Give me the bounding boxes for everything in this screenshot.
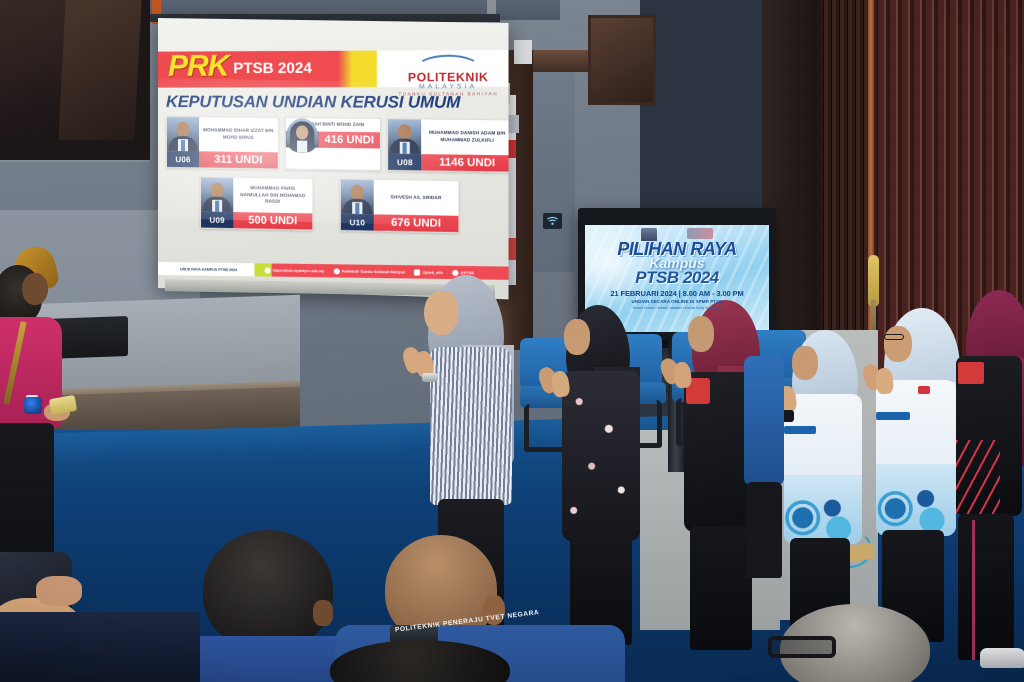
glasses bbox=[768, 636, 836, 658]
wall-plate bbox=[514, 40, 532, 64]
person-student-1 bbox=[778, 330, 874, 640]
candidate-photo bbox=[388, 119, 421, 154]
blue-shirt bbox=[744, 356, 784, 486]
person-partial-left-of-group bbox=[744, 336, 790, 576]
candidate-name: MOHAMMAD IDHAR IZZAT BIN MOHD IDRUS bbox=[199, 117, 278, 152]
candidate-name: MUHAMMAD FARIS NAIMULLAH BIN MOHAMAD RAS… bbox=[233, 178, 312, 213]
head-dark-hair bbox=[330, 640, 510, 682]
red-stripe-pattern bbox=[956, 440, 1000, 524]
floral-dress bbox=[562, 371, 640, 541]
batik-pattern bbox=[784, 475, 862, 544]
candidate-code: U06 bbox=[167, 151, 199, 167]
face bbox=[564, 319, 590, 355]
person-student-3 bbox=[956, 290, 1024, 680]
uniform-badge bbox=[918, 386, 930, 394]
wood-ceiling-panel-2 bbox=[58, 0, 141, 140]
candidate-votes: 311 UNDI bbox=[199, 151, 278, 168]
logo-name: POLITEKNIK bbox=[394, 71, 502, 84]
glasses bbox=[884, 334, 904, 340]
tv-date-line: 21 FEBRUARI 2024 | 8.00 AM - 3.00 PM bbox=[585, 289, 769, 298]
facebook-icon bbox=[334, 268, 340, 274]
candidate-code: U08 bbox=[388, 154, 421, 171]
uniform-shirt bbox=[784, 394, 862, 544]
tv-note: Kerusi Umum • Kerusi Jabatan • Kerusi Ko… bbox=[585, 306, 769, 311]
tv-title-script: Kampus bbox=[585, 255, 769, 271]
ear bbox=[313, 600, 333, 626]
candidate-photo bbox=[286, 118, 319, 153]
candidate-name: SHIVESH A/L SRIDAR bbox=[374, 180, 459, 216]
tv-title-line2: PTSB 2024 bbox=[585, 269, 769, 286]
wifi-icon bbox=[543, 213, 562, 229]
candidate-card: MUHAMMAD DANISH ADAM BIN MUHAMMAD ZULKIF… bbox=[387, 118, 508, 173]
candidate-votes: 500 UNDI bbox=[233, 212, 312, 229]
pant-stripe bbox=[972, 520, 975, 660]
candidate-photo bbox=[341, 179, 374, 214]
batik-pattern bbox=[876, 464, 956, 536]
candidate-votes: 676 UNDI bbox=[374, 214, 459, 232]
politeknik-logo-icon bbox=[687, 228, 713, 239]
footer-link-label: Politeknik Tuanku Sultanah Bahiyah bbox=[342, 269, 405, 274]
person-audience-front-head bbox=[330, 640, 510, 682]
person-audience-3 bbox=[762, 604, 952, 682]
foreground-shoulder bbox=[0, 612, 200, 682]
candidate-card: MOHAMMAD IDHAR IZZAT BIN MOHD IDRUS U06 … bbox=[166, 116, 279, 170]
logo-arc-icon bbox=[416, 55, 480, 72]
red-shoulder-trim bbox=[958, 362, 984, 384]
candidate-photo bbox=[201, 177, 233, 212]
tv-subtitle: UNDIAN SECARA ONLINE DI SPMR PTSB bbox=[585, 299, 769, 304]
hand-clapping bbox=[673, 361, 693, 389]
thumb bbox=[36, 576, 82, 606]
candidate-votes: 1146 UNDI bbox=[421, 154, 508, 172]
projector-screen: PRK PTSB 2024 POLITEKNIK MALAYSIA TUANKU… bbox=[158, 18, 509, 299]
banner-brand-prk: PRK bbox=[168, 52, 229, 82]
banner-brand-sub: PTSB 2024 bbox=[233, 61, 312, 76]
candidate-card: SHIVESH A/L SRIDAR U10 676 UNDI bbox=[340, 178, 460, 233]
politeknik-logo: POLITEKNIK MALAYSIA TUANKU SULTANAH BAHI… bbox=[394, 52, 502, 93]
uniform-cuff bbox=[876, 412, 910, 420]
black-trousers bbox=[690, 526, 752, 650]
globe-icon bbox=[265, 267, 271, 273]
wristwatch bbox=[24, 397, 42, 414]
candidate-name: MUHAMMAD DANISH ADAM BIN MUHAMMAD ZULKIF… bbox=[421, 120, 508, 156]
striped-shirt bbox=[430, 347, 512, 505]
candidate-votes: 416 UNDI bbox=[318, 131, 380, 148]
held-paper bbox=[49, 395, 77, 415]
candidate-photo bbox=[167, 117, 199, 151]
banner-title: KEPUTUSAN UNDIAN KERUSI UMUM bbox=[166, 93, 493, 113]
face bbox=[688, 316, 714, 352]
wall-picture-frame bbox=[588, 15, 656, 105]
face bbox=[424, 291, 458, 335]
sneaker bbox=[980, 648, 1024, 668]
uniform-shirt bbox=[876, 380, 956, 536]
face bbox=[22, 273, 48, 305]
candidate-code: U09 bbox=[201, 212, 233, 229]
candidate-row-2: MUHAMMAD FARIS NAIMULLAH BIN MOHAMAD RAS… bbox=[166, 176, 503, 234]
candidate-results-grid: MOHAMMAD IDHAR IZZAT BIN MOHD IDRUS U06 … bbox=[166, 116, 503, 242]
footer-link-label: @ptsb_edu bbox=[423, 270, 443, 274]
candidate-row-1: MOHAMMAD IDHAR IZZAT BIN MOHD IDRUS U06 … bbox=[166, 116, 503, 173]
footer-note: URUS RAYA KAMPUS PTSB 2024 bbox=[158, 266, 254, 271]
candidate-card: AMIRAH BINTI MOHD ZAIN U07 416 UNDI bbox=[285, 117, 381, 171]
black-tracksuit-pants bbox=[958, 514, 1014, 660]
dark-trousers bbox=[746, 482, 782, 578]
footer-link-website: https://ptsb.mypolycc.edu.my bbox=[265, 267, 325, 274]
wall-seam bbox=[0, 160, 150, 162]
footer-link-label: https://ptsb.mypolycc.edu.my bbox=[273, 268, 325, 273]
footer-link-facebook: Politeknik Tuanku Sultanah Bahiyah bbox=[334, 268, 406, 275]
candidate-card: MUHAMMAD FARIS NAIMULLAH BIN MOHAMAD RAS… bbox=[200, 176, 313, 230]
logo-subtitle-1: MALAYSIA bbox=[394, 83, 502, 92]
face bbox=[792, 346, 818, 380]
auditorium-scene: PRK PTSB 2024 POLITEKNIK MALAYSIA TUANKU… bbox=[0, 0, 1024, 682]
face bbox=[884, 326, 912, 362]
head-dark-hair bbox=[203, 530, 333, 650]
candidate-code: U10 bbox=[341, 214, 374, 231]
hand-clapping bbox=[875, 367, 894, 394]
wristwatch bbox=[422, 373, 438, 382]
